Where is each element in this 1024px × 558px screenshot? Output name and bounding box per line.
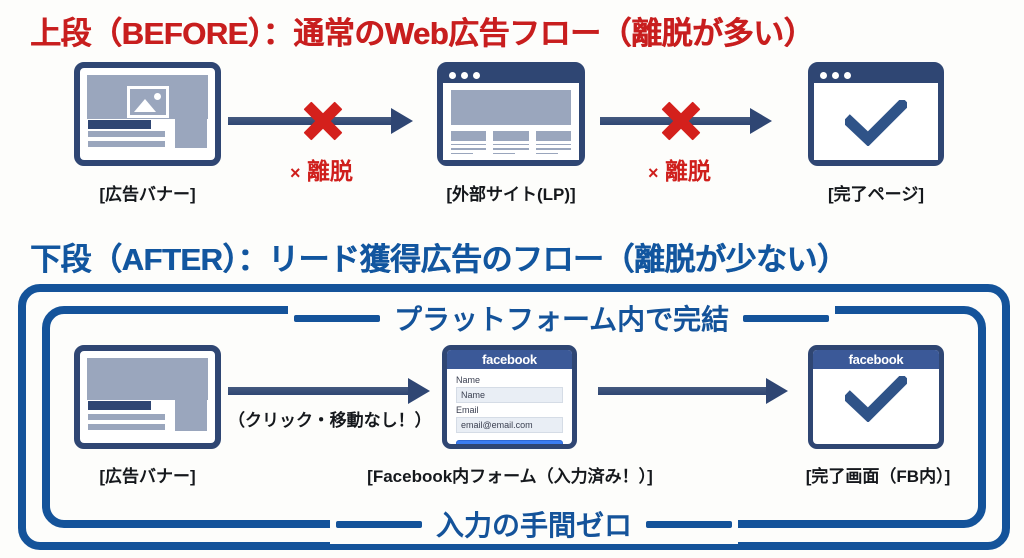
name-field-label: Name (456, 375, 563, 385)
lp-hero-block (451, 90, 571, 125)
window-dot-icon (461, 72, 468, 79)
banner-hero-block (87, 358, 208, 400)
after-arrow-2-line (598, 387, 768, 395)
banner-headline-bar (88, 401, 151, 410)
lp-column-image (451, 131, 486, 141)
facebook-completion-card: facebook (808, 345, 944, 449)
band-label-bottom: 入力の手間ゼロ (330, 504, 738, 544)
dropoff-x-glyph: × (648, 163, 659, 183)
lp-column (451, 131, 486, 154)
before-dropoff-label-1: × 離脱 (290, 152, 353, 186)
lp-column-line (451, 148, 486, 149)
after-node-3-caption: [完了画面（FB内）] (790, 462, 966, 487)
after-section-title: 下段（AFTER）：リード獲得広告のフロー（離脱が少ない） (30, 234, 847, 279)
lp-column-image (493, 131, 528, 141)
facebook-brand-header: facebook (447, 350, 572, 369)
window-titlebar (443, 68, 579, 83)
window-dot-icon (820, 72, 827, 79)
band-rule-right (646, 521, 732, 528)
after-arrow-2-head (766, 378, 788, 404)
window-dot-icon (844, 72, 851, 79)
banner-text-line (88, 414, 165, 420)
before-ad-banner-card (74, 62, 221, 166)
facebook-brand-header: facebook (813, 350, 939, 369)
before-completion-window (808, 62, 944, 166)
before-arrow-1-head (391, 108, 413, 134)
check-icon (845, 376, 907, 422)
dropoff-text: 離脱 (307, 158, 353, 184)
band-label-top: プラットフォーム内で完結 (288, 298, 835, 338)
dropoff-x-glyph: × (290, 163, 301, 183)
name-input[interactable]: Name (456, 387, 563, 403)
banner-hero-block (87, 75, 208, 119)
banner-text-line (88, 141, 165, 147)
after-node-1-caption: [広告バナー] (74, 462, 221, 487)
after-arrow-note: （クリック・移動なし！） (228, 406, 432, 431)
lp-columns (451, 131, 571, 154)
banner-text-line (88, 424, 165, 430)
band-rule-left (294, 315, 380, 322)
after-arrow-1-head (408, 378, 430, 404)
email-field-label: Email (456, 405, 563, 415)
submit-button-label: submit (493, 444, 526, 449)
before-arrow-2-head (750, 108, 772, 134)
band-label-bottom-text: 入力の手間ゼロ (436, 504, 632, 544)
banner-thumbnail-box (175, 400, 207, 431)
before-dropoff-x-2 (661, 101, 701, 141)
lp-column-image (536, 131, 571, 141)
lp-column-line (493, 144, 528, 145)
email-input[interactable]: email@email.com (456, 417, 563, 433)
window-body (443, 83, 579, 160)
lp-column-line (493, 148, 528, 149)
banner-headline-bar (88, 120, 151, 129)
banner-thumbnail-box (175, 119, 207, 148)
window-titlebar (814, 68, 938, 83)
lp-column-line (451, 153, 473, 154)
hand-cursor-icon (532, 447, 546, 449)
lp-column-line (451, 144, 486, 145)
image-placeholder-icon (127, 86, 169, 118)
after-node-2-caption: [Facebook内フォーム（入力済み！）] (342, 462, 678, 487)
before-dropoff-label-2: × 離脱 (648, 152, 711, 186)
slide-canvas: 上段（BEFORE）：通常のWeb広告フロー（離脱が多い） [広告バナー] × … (0, 0, 1024, 558)
after-arrow-1-line (228, 387, 410, 395)
band-label-top-text: プラットフォーム内で完結 (394, 298, 729, 338)
before-node-3-caption: [完了ページ] (800, 180, 952, 205)
before-lp-window (437, 62, 585, 166)
lp-column-line (536, 144, 571, 145)
facebook-lead-form-card: facebook Name Name Email email@email.com… (442, 345, 577, 449)
after-ad-banner-card (74, 345, 221, 449)
lp-column (536, 131, 571, 154)
lp-column-line (493, 153, 515, 154)
before-section-title: 上段（BEFORE）：通常のWeb広告フロー（離脱が多い） (30, 8, 814, 53)
check-icon (845, 100, 907, 146)
window-dot-icon (449, 72, 456, 79)
facebook-form-body: Name Name Email email@email.com submit (447, 369, 572, 449)
window-dot-icon (473, 72, 480, 79)
lp-column-line (536, 153, 558, 154)
before-node-1-caption: [広告バナー] (74, 180, 221, 205)
before-dropoff-x-1 (303, 101, 343, 141)
band-rule-left (336, 521, 422, 528)
window-body (814, 83, 938, 160)
lp-column-line (536, 148, 571, 149)
banner-text-line (88, 131, 165, 137)
before-node-2-caption: [外部サイト(LP)] (425, 180, 597, 205)
window-dot-icon (832, 72, 839, 79)
lp-column (493, 131, 528, 154)
submit-button[interactable]: submit (456, 440, 563, 449)
band-rule-right (743, 315, 829, 322)
dropoff-text: 離脱 (665, 158, 711, 184)
